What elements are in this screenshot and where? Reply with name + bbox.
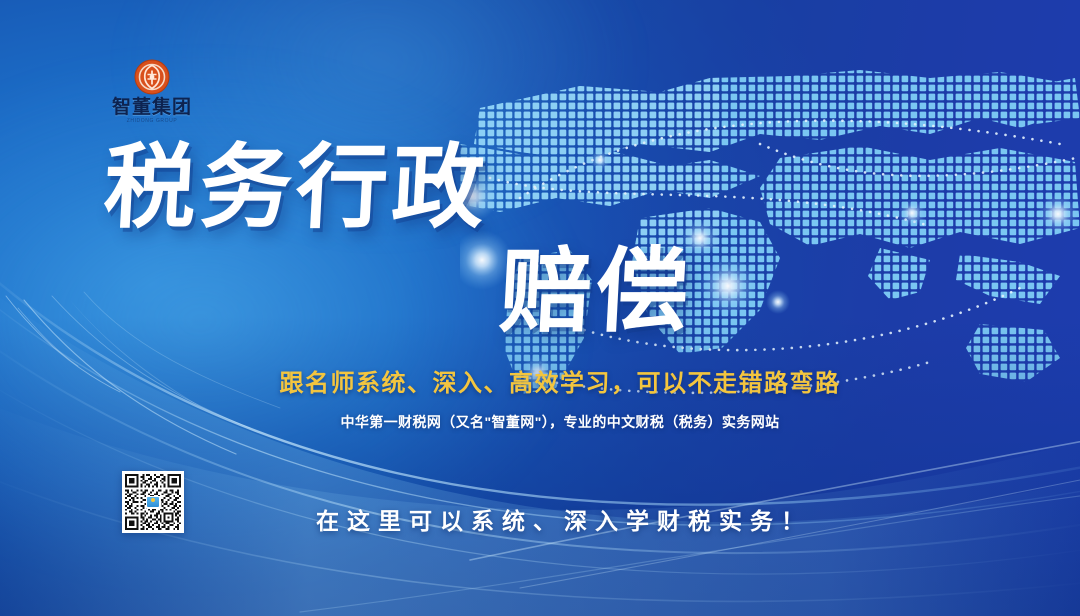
promo-banner: 智董集团 ZHIDONG GROUP 税务行政 赔偿 跟名师系统、深入、高效学习… — [0, 0, 1080, 616]
subtitle-secondary: 中华第一财税网（又名"智董网"），专业的中文财税（税务）实务网站 — [0, 412, 1080, 432]
brand-pinyin: ZHIDONG GROUP — [104, 119, 200, 124]
brand-logo[interactable]: 智董集团 ZHIDONG GROUP — [104, 58, 200, 134]
brand-name: 智董集团 — [104, 98, 200, 118]
headline-line-2: 赔偿 — [498, 246, 695, 338]
zhidong-emblem-icon — [133, 58, 171, 96]
wechat-mini-program-icon — [146, 496, 161, 509]
headline-line-1: 税务行政 — [102, 142, 491, 234]
qr-code[interactable] — [122, 471, 184, 533]
subtitle-primary: 跟名师系统、深入、高效学习，可以不走错路弯路 — [0, 363, 1080, 398]
